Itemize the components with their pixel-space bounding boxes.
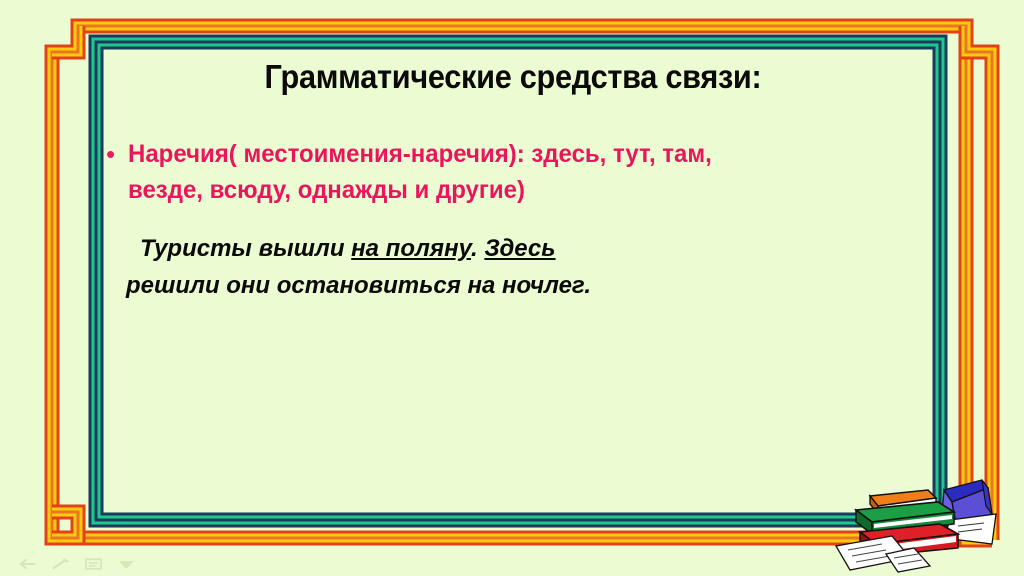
example-underline-zdes: Здесь: [484, 235, 555, 262]
stack-of-books-clipart: [832, 462, 1002, 574]
slide-content: Грамматические средства связи: • Наречия…: [96, 52, 930, 522]
example-underline-na-polyanu: на поляну: [351, 235, 471, 262]
example-line2: решили они остановиться на ночлег.: [126, 272, 591, 299]
down-arrow-icon[interactable]: [117, 557, 136, 571]
bullet-item-text: Наречия( местоимения-наречия): здесь, ту…: [128, 136, 728, 208]
example-line1-punct: .: [471, 235, 484, 262]
example-sentence: Туристы вышли на поляну. Здесь решили он…: [96, 230, 756, 304]
pencil-icon[interactable]: [51, 557, 70, 571]
example-line1-lead: Туристы вышли: [126, 235, 351, 262]
page-title: Грамматические средства связи:: [125, 58, 901, 96]
slide-canvas: Грамматические средства связи: • Наречия…: [0, 0, 1024, 576]
bullet-list-item: • Наречия( местоимения-наречия): здесь, …: [96, 136, 930, 208]
back-arrow-icon[interactable]: [18, 557, 37, 571]
list-icon[interactable]: [84, 557, 103, 571]
bullet-marker-icon: •: [102, 136, 128, 172]
tool-icon-strip: [18, 554, 136, 574]
